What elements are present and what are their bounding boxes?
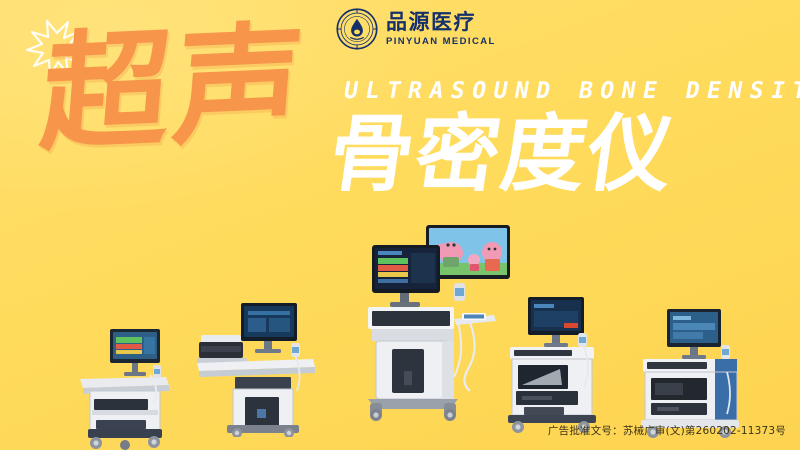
product-trolley-densitometer-dual-screen: [358, 223, 513, 423]
product-lineup: [0, 215, 800, 430]
product-trolley-densitometer-integrated-printer: [500, 293, 605, 435]
brand-name-en: PINYUAN MEDICAL: [386, 37, 496, 47]
product-trolley-densitometer-blue-panel: [635, 305, 745, 440]
headline-title-en: ULTRASOUND BONE DENSITOMETER: [342, 78, 800, 104]
brand-logo: 品源医疗 PINYUAN MEDICAL: [336, 8, 496, 50]
brand-text-block: 品源医疗 PINYUAN MEDICAL: [386, 12, 496, 47]
product-trolley-densitometer-compact: [70, 325, 180, 450]
pinyuan-circular-emblem-icon: [336, 8, 378, 50]
headline-title-cn: 超声: [36, 20, 311, 159]
headline-subtitle-cn: 骨密度仪: [324, 112, 680, 196]
poster-canvas: 品源医疗 PINYUAN MEDICAL 超声 ULTRASOUND BONE …: [0, 0, 800, 450]
product-trolley-densitometer-with-printer: [195, 297, 320, 437]
brand-name-cn: 品源医疗: [386, 12, 496, 33]
advertisement-approval-number: 广告批准文号：苏械广审(文)第260202-11373号: [548, 423, 786, 438]
